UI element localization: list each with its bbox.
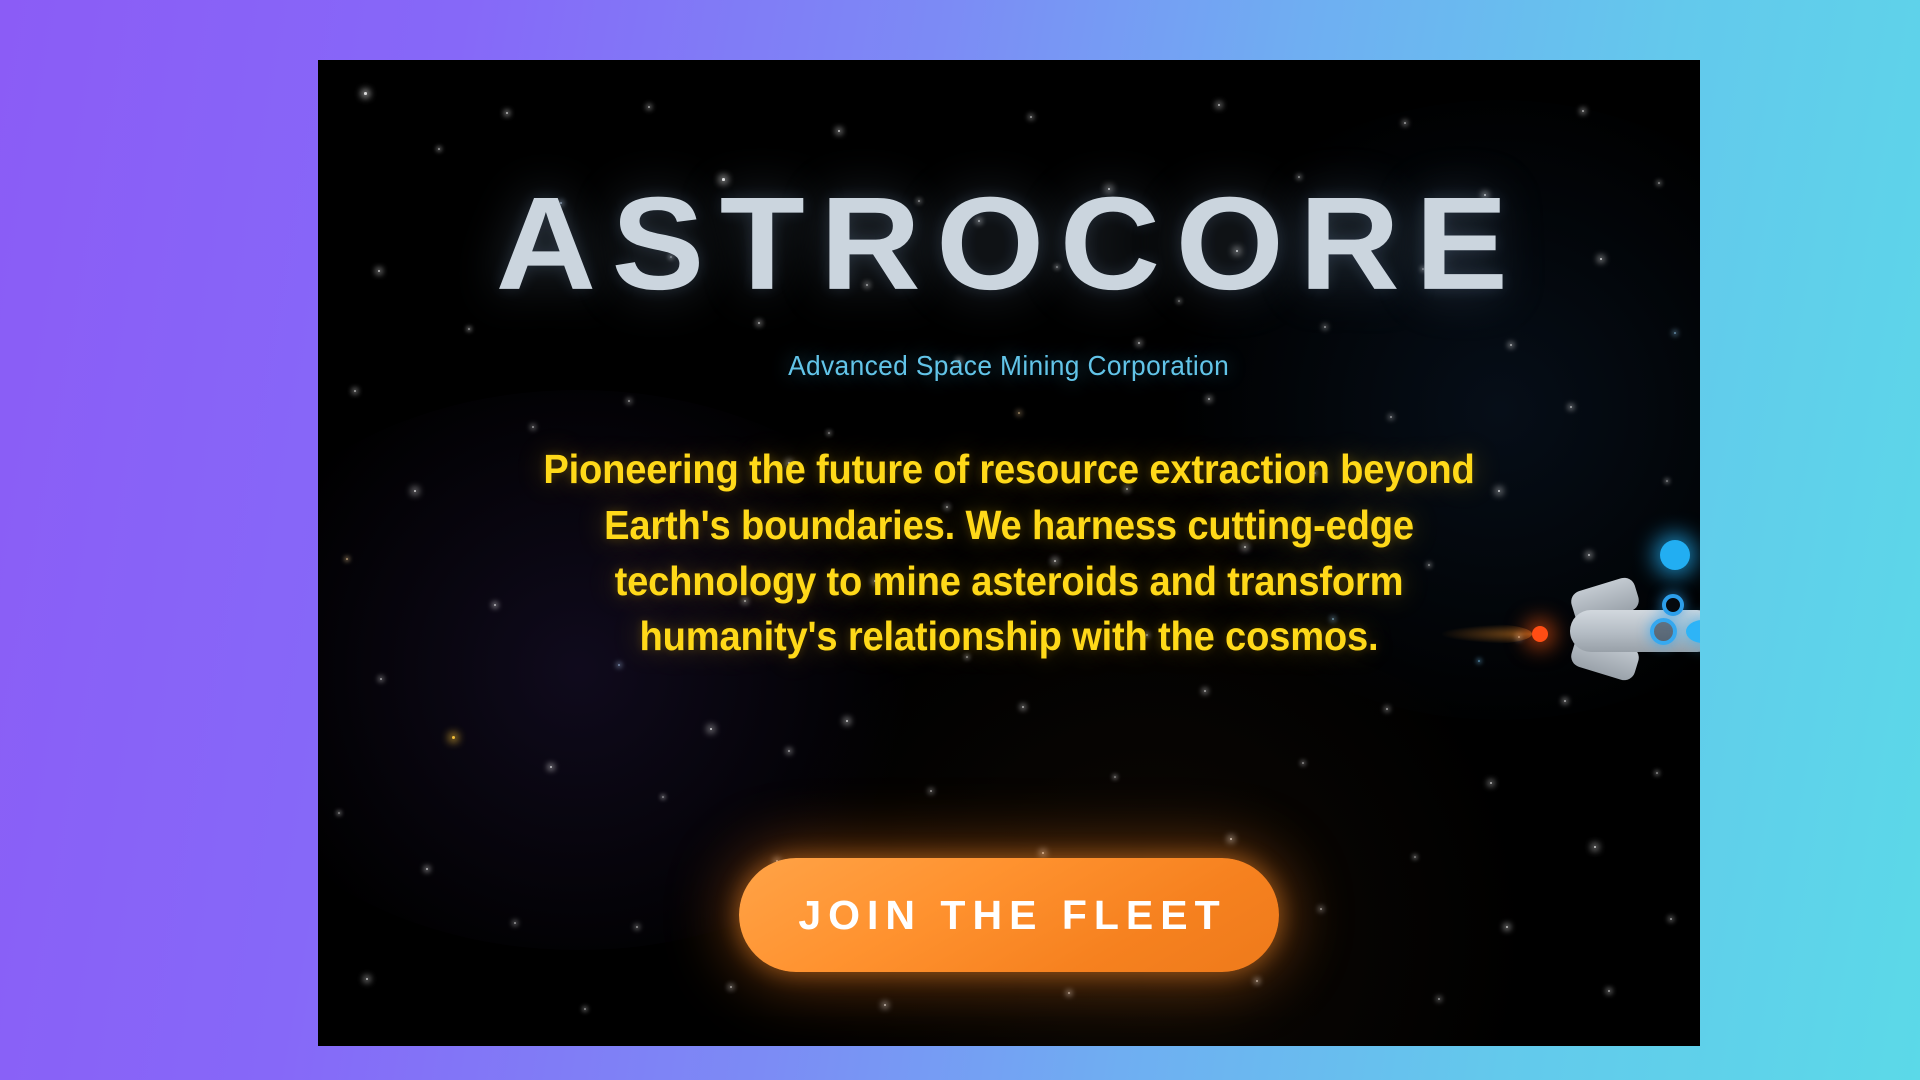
thruster-flame-icon [1532, 626, 1548, 642]
spaceship-icon [1528, 558, 1700, 678]
thruster-trail-icon [1442, 624, 1532, 644]
brand-subtitle: Advanced Space Mining Corporation [788, 350, 1229, 382]
ship-hull-icon [1570, 610, 1700, 652]
page-title: ASTROCORE [495, 178, 1523, 310]
ship-orb-icon [1660, 540, 1690, 570]
hero-panel: ASTROCORE Advanced Space Mining Corporat… [318, 60, 1700, 1046]
hero-description: Pioneering the future of resource extrac… [516, 442, 1502, 665]
ship-porthole-icon [1650, 618, 1677, 645]
ship-orb-ring-icon [1662, 594, 1684, 616]
hero-content: ASTROCORE Advanced Space Mining Corporat… [318, 60, 1700, 1046]
